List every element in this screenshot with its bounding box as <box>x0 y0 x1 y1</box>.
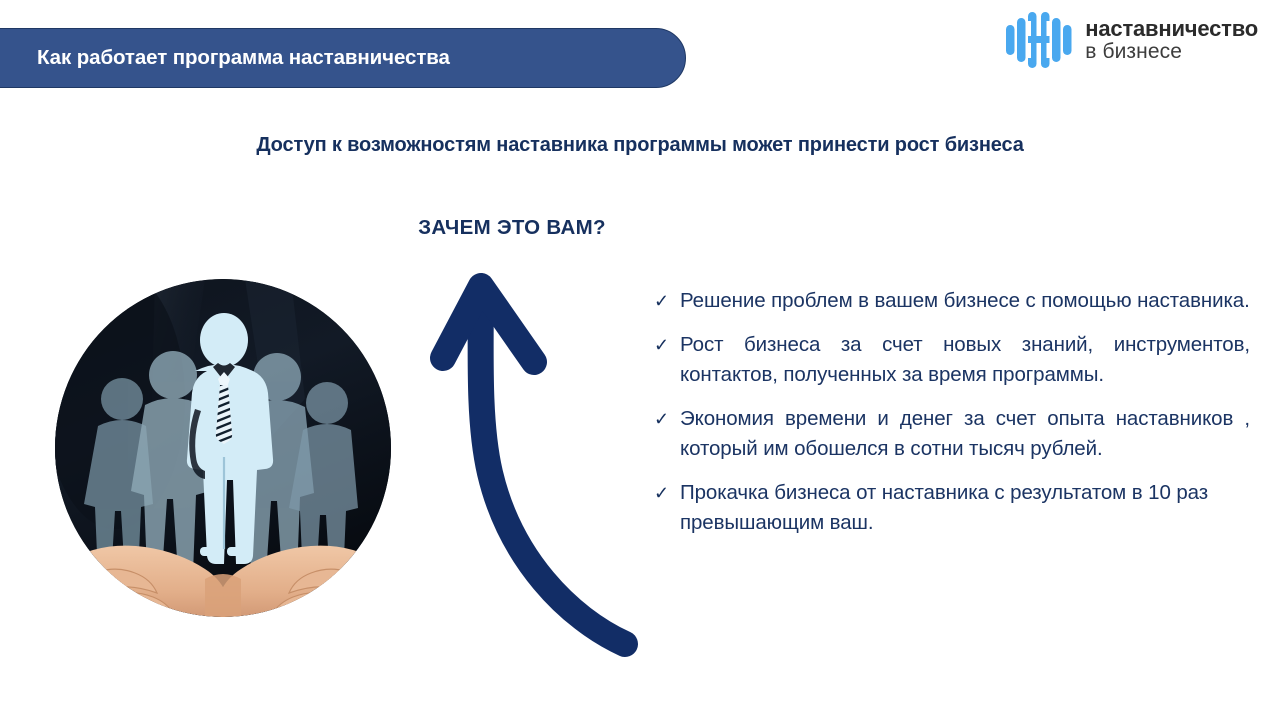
section-heading: ЗАЧЕМ ЭТО ВАМ? <box>262 216 762 240</box>
logo-line-primary: наставничество <box>1085 18 1258 41</box>
hands-holding-paper-people-photo <box>55 279 391 617</box>
list-item: ✓ Рост бизнеса за счет новых знаний, инс… <box>650 330 1250 390</box>
benefits-list: ✓ Решение проблем в вашем бизнесе с помо… <box>650 286 1250 538</box>
list-item-text: Экономия времени и денег за счет опыта н… <box>680 404 1250 464</box>
header-banner: Как работает программа наставничества <box>0 28 686 88</box>
list-item-text: Рост бизнеса за счет новых знаний, инстр… <box>680 330 1250 390</box>
list-item: ✓ Решение проблем в вашем бизнесе с помо… <box>650 286 1250 316</box>
logo-line-secondary: в бизнесе <box>1085 41 1258 63</box>
list-item: ✓ Прокачка бизнеса от наставника с резул… <box>650 478 1250 538</box>
check-icon: ✓ <box>650 330 680 360</box>
logo-wordmark: наставничество в бизнесе <box>1085 18 1258 63</box>
slide-subtitle: Доступ к возможностям наставника програм… <box>0 134 1280 157</box>
list-item-text: Прокачка бизнеса от наставника с результ… <box>680 478 1250 538</box>
list-item-text: Решение проблем в вашем бизнесе с помощь… <box>680 286 1250 316</box>
check-icon: ✓ <box>650 404 680 434</box>
header-banner-title: Как работает программа наставничества <box>0 46 450 70</box>
brand-logo: наставничество в бизнесе <box>1005 9 1258 71</box>
nastavnichestvo-logo-mark-icon <box>1005 9 1073 71</box>
slide-canvas: Как работает программа наставничества <box>0 0 1280 720</box>
check-icon: ✓ <box>650 286 680 316</box>
list-item: ✓ Экономия времени и денег за счет опыта… <box>650 404 1250 464</box>
curved-up-arrow-icon <box>418 258 668 658</box>
check-icon: ✓ <box>650 478 680 508</box>
